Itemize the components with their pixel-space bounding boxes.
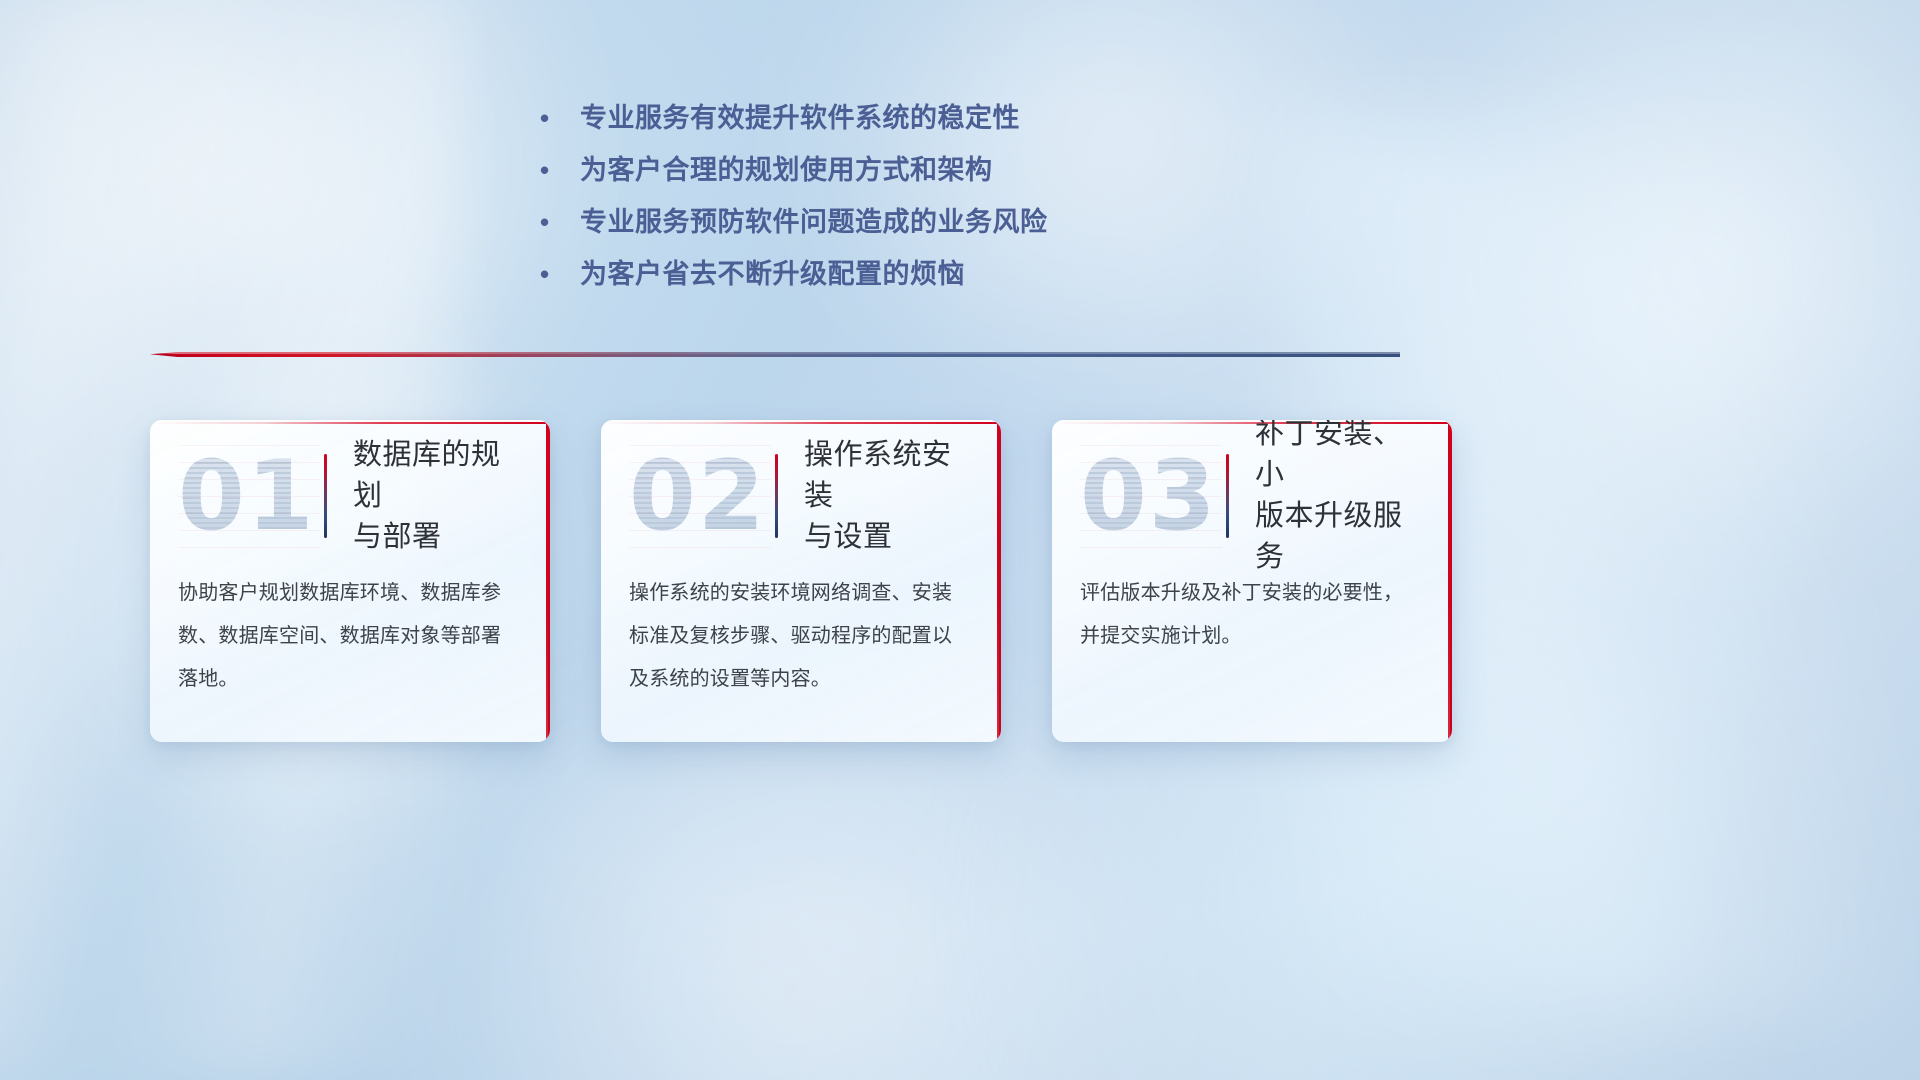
card-number-watermark: 02 [629, 448, 771, 544]
bullet-marker-icon: • [540, 196, 580, 248]
bullet-marker-icon: • [540, 248, 580, 300]
card-number-watermark: 01 [178, 448, 320, 544]
service-card-01[interactable]: 01 数据库的规划 与部署 协助客户规划数据库环境、数据库参数、数据库空间、数据… [150, 420, 550, 742]
card-title-divider-bar [324, 454, 327, 538]
list-item: • 为客户合理的规划使用方式和架构 [540, 144, 1280, 196]
card-header: 01 数据库的规划 与部署 [150, 420, 550, 572]
card-header: 02 操作系统安装 与设置 [601, 420, 1001, 572]
divider-sheen [150, 352, 1400, 354]
card-body-text: 操作系统的安装环境网络调查、安装标准及复核步骤、驱动程序的配置以及系统的设置等内… [601, 572, 1001, 701]
card-title: 操作系统安装 与设置 [804, 435, 975, 558]
list-item: • 专业服务有效提升软件系统的稳定性 [540, 92, 1280, 144]
bullet-text: 专业服务预防软件问题造成的业务风险 [580, 196, 1048, 248]
service-card-03[interactable]: 03 补丁安装、小 版本升级服务 评估版本升级及补丁安装的必要性，并提交实施计划… [1052, 420, 1452, 742]
bullet-text: 为客户合理的规划使用方式和架构 [580, 144, 993, 196]
card-title: 数据库的规划 与部署 [353, 435, 524, 558]
card-header: 03 补丁安装、小 版本升级服务 [1052, 420, 1452, 572]
card-title: 补丁安装、小 版本升级服务 [1255, 420, 1426, 578]
bullet-marker-icon: • [540, 144, 580, 196]
card-number-watermark: 03 [1080, 448, 1222, 544]
service-card-list: 01 数据库的规划 与部署 协助客户规划数据库环境、数据库参数、数据库空间、数据… [150, 420, 1452, 742]
bullet-marker-icon: • [540, 92, 580, 144]
card-title-divider-bar [775, 454, 778, 538]
card-title-divider-bar [1226, 454, 1229, 538]
card-body-text: 评估版本升级及补丁安装的必要性，并提交实施计划。 [1052, 572, 1452, 658]
section-divider [150, 348, 1400, 362]
card-body-text: 协助客户规划数据库环境、数据库参数、数据库空间、数据库对象等部署落地。 [150, 572, 550, 701]
bullet-text: 专业服务有效提升软件系统的稳定性 [580, 92, 1020, 144]
benefits-bullet-list: • 专业服务有效提升软件系统的稳定性 • 为客户合理的规划使用方式和架构 • 专… [540, 92, 1280, 300]
list-item: • 为客户省去不断升级配置的烦恼 [540, 248, 1280, 300]
list-item: • 专业服务预防软件问题造成的业务风险 [540, 196, 1280, 248]
bullet-text: 为客户省去不断升级配置的烦恼 [580, 248, 965, 300]
service-card-02[interactable]: 02 操作系统安装 与设置 操作系统的安装环境网络调查、安装标准及复核步骤、驱动… [601, 420, 1001, 742]
